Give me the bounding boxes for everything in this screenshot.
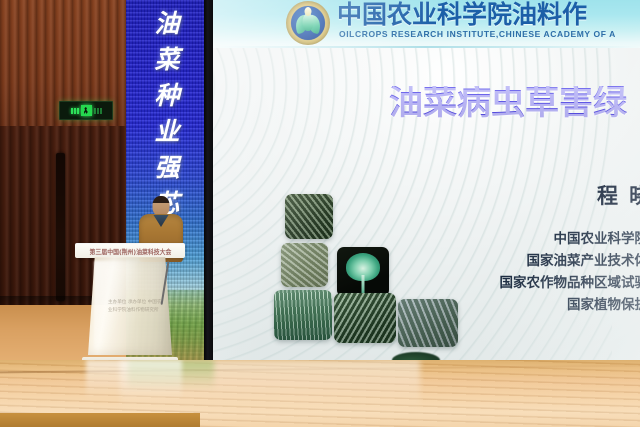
speaker-head (153, 196, 170, 216)
stage-floor (0, 360, 640, 427)
running-man-icon (81, 105, 92, 116)
presentation-slide: 中国农业科学院油料作 OILCROPS RESEARCH INSTITUTE,C… (212, 0, 640, 368)
led-char-1: 菜 (154, 48, 179, 73)
podium-banner: 第三届中国(荆州)油菜科技大会 (75, 244, 185, 258)
led-vertical-slogan: 油 菜 种 业 强 芯 (150, 12, 184, 217)
slide-photo-collage (212, 0, 640, 368)
screen-divider-bezel (204, 0, 213, 372)
photo-rapeseed-plant-3 (337, 247, 389, 297)
conference-photo-scene: 油 菜 种 业 强 芯 中国农业科学院油料作 OILCROPS RESEARCH… (0, 0, 640, 427)
emergency-exit-sign (59, 101, 113, 120)
photo-rapeseed-disease-2 (281, 243, 328, 287)
floor-front-lip (0, 413, 200, 427)
podium-lectern: 第三届中国(荆州)油菜科技大会 主办单位 承办单位 中国农业科学院油料作物研究所 (78, 243, 182, 365)
led-char-2: 种 (154, 84, 179, 109)
led-char-0: 油 (154, 12, 179, 37)
podium-banner-text: 第三届中国(荆州)油菜科技大会 (89, 247, 171, 256)
photo-rapeseed-crop-6 (398, 299, 458, 347)
photo-rapeseed-field-4 (274, 290, 332, 340)
exit-sign-right-bars (94, 108, 102, 114)
wall-door-recess (56, 153, 65, 301)
photo-rapeseed-leaf-5 (334, 293, 396, 343)
floor-reflection-podium (86, 360, 182, 400)
photo-rapeseed-pest-1 (285, 194, 333, 239)
led-char-3: 业 (154, 120, 179, 145)
podium-fine-print: 主办单位 承办单位 中国农业科学院油料作物研究所 (108, 299, 162, 316)
led-char-4: 强 (154, 156, 179, 181)
photo-plant-stem (362, 275, 365, 293)
exit-sign-left-bars (71, 108, 79, 114)
